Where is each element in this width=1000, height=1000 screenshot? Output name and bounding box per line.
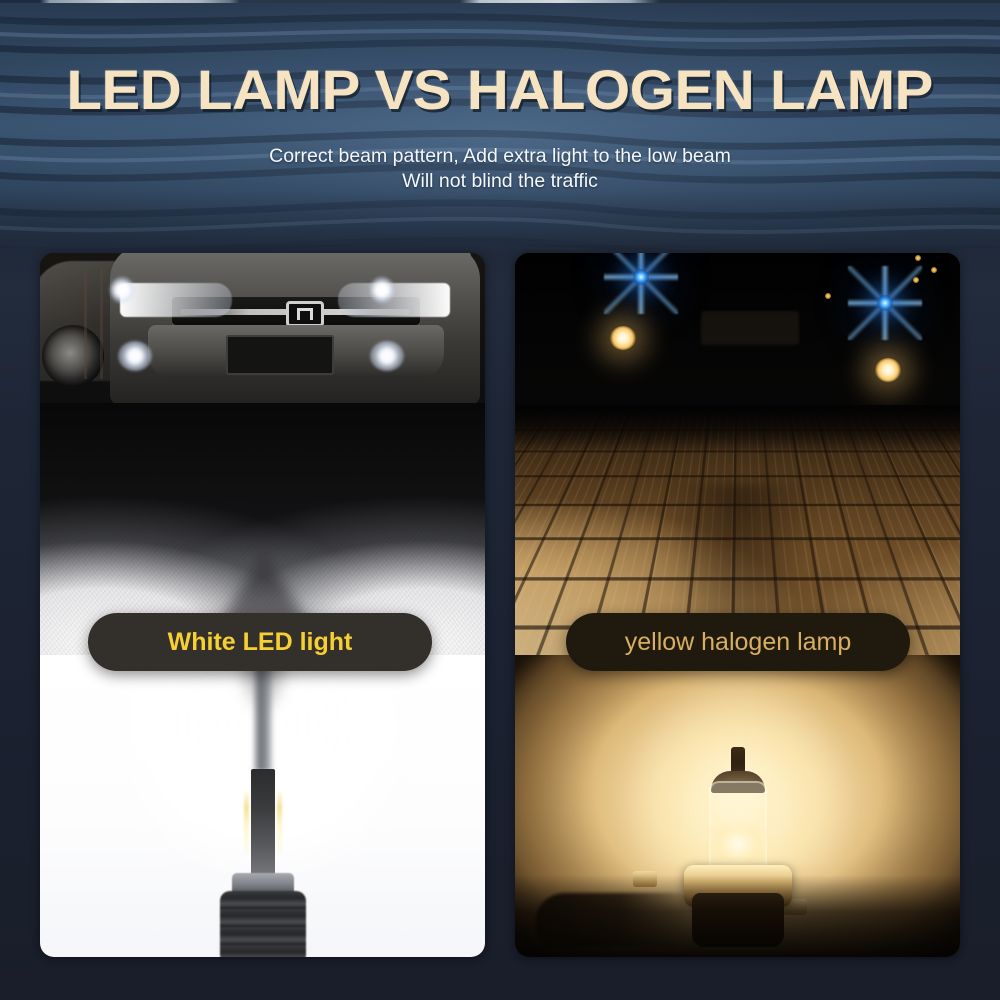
headlight-hotspot-left [110, 277, 134, 303]
halogen-comparison-panel[interactable] [515, 253, 960, 957]
fog-light-left [118, 341, 152, 371]
blue-accent-light-left [633, 269, 649, 285]
led-bulb-photo [40, 655, 485, 957]
halogen-label-text: yellow halogen lamp [625, 628, 852, 657]
top-edge-sliver [0, 0, 1000, 3]
background-light-dot-4 [913, 277, 919, 283]
halogen-bulb-photo [515, 655, 960, 957]
honda-logo-icon [286, 301, 324, 327]
header: LED LAMP VS HALOGEN LAMP Correct beam pa… [0, 0, 1000, 230]
halogen-headlight-right [875, 358, 901, 382]
halogen-night-scene-photo [515, 253, 960, 655]
page-subtitle: Correct beam pattern, Add extra light to… [269, 144, 731, 194]
headlight-right-side [338, 283, 450, 317]
led-label-text: White LED light [168, 628, 353, 657]
pavement-top-shadow [515, 405, 960, 453]
blue-accent-light-right [877, 295, 893, 311]
led-bulb-body [251, 769, 275, 877]
fog-light-right [370, 341, 404, 371]
subtitle-line-2: Will not blind the traffic [269, 169, 731, 194]
comparison-panels [40, 253, 960, 957]
background-light-dot-2 [931, 267, 937, 273]
led-bulb-heatsink-base [220, 891, 306, 957]
led-bulb-stem [253, 655, 273, 771]
led-night-scene-photo [40, 253, 485, 655]
page-root: LED LAMP VS HALOGEN LAMP Correct beam pa… [0, 0, 1000, 1000]
license-plate-dim [701, 311, 799, 345]
background-light-dot-1 [915, 255, 921, 261]
halogen-label-pill[interactable]: yellow halogen lamp [566, 613, 910, 671]
background-light-dot-3 [825, 293, 831, 299]
subtitle-line-1: Correct beam pattern, Add extra light to… [269, 145, 731, 167]
page-title: LED LAMP VS HALOGEN LAMP [67, 62, 934, 118]
license-plate [226, 335, 334, 375]
headlight-hotspot-right [370, 277, 394, 303]
led-chip-right [277, 791, 282, 855]
halogen-bottom-shadow [515, 875, 960, 957]
halogen-headlight-left [610, 326, 636, 350]
led-comparison-panel[interactable] [40, 253, 485, 957]
led-chip-left [244, 791, 249, 855]
headlight-left-side [120, 283, 232, 317]
led-label-pill[interactable]: White LED light [88, 613, 432, 671]
